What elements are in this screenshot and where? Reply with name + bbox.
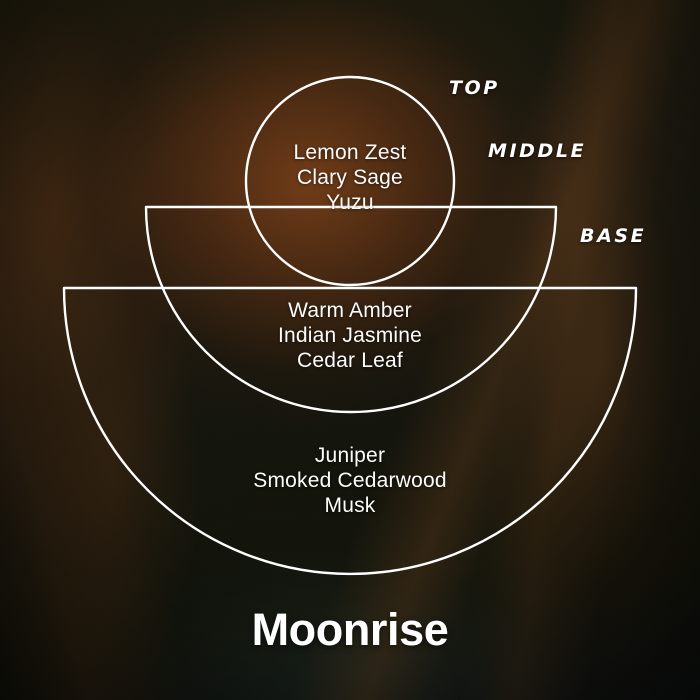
tier-label-middle: MIDDLE bbox=[488, 140, 586, 162]
product-title: Moonrise bbox=[0, 604, 700, 656]
tier-label-top: TOP bbox=[449, 77, 500, 99]
tier-label-base: BASE bbox=[580, 225, 646, 247]
fragrance-note-card: Lemon Zest Clary Sage Yuzu Warm Amber In… bbox=[0, 0, 700, 700]
top-notes-list: Lemon Zest Clary Sage Yuzu bbox=[0, 140, 700, 215]
middle-notes-list: Warm Amber Indian Jasmine Cedar Leaf bbox=[0, 298, 700, 373]
base-notes-list: Juniper Smoked Cedarwood Musk bbox=[0, 443, 700, 518]
